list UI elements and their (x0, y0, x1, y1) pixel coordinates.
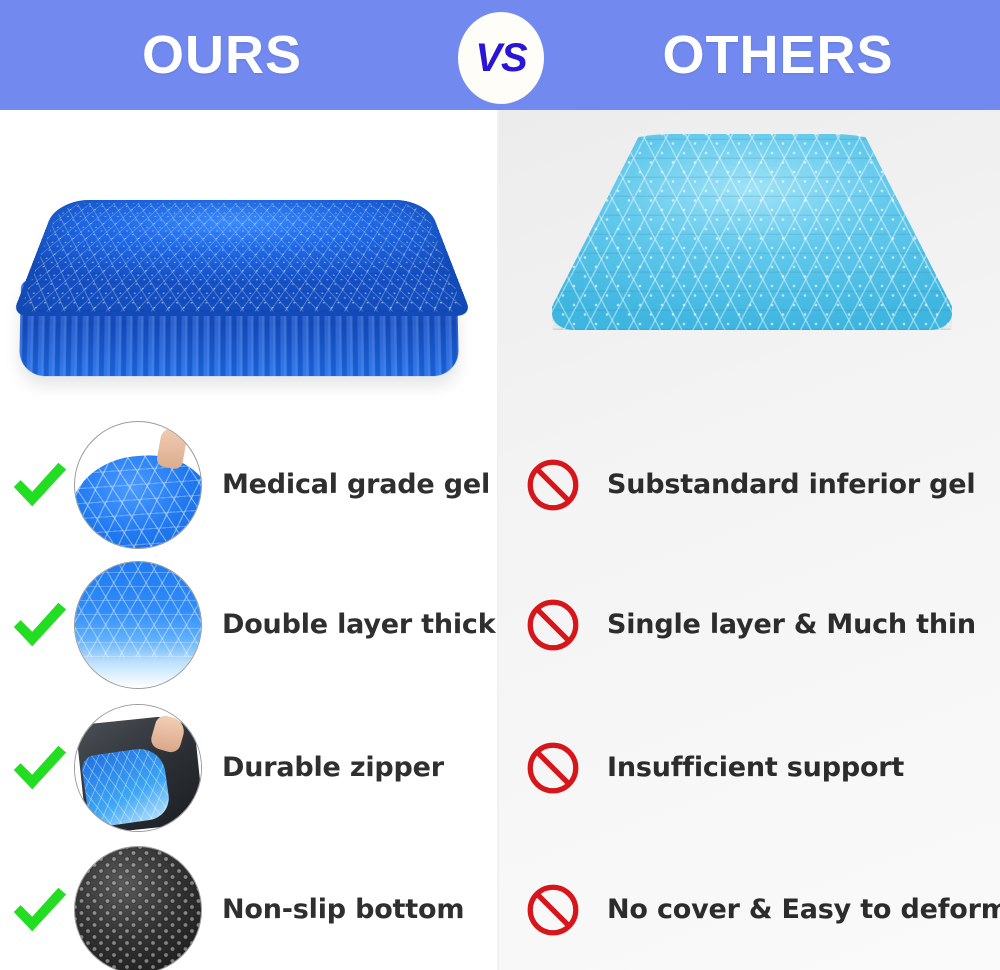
prohibition-icon (525, 882, 581, 938)
ours-feature-label: Medical grade gel (222, 469, 490, 500)
comparison-rows: Medical grade gel Substandard inferior g… (0, 415, 1000, 970)
check-icon (8, 737, 70, 799)
others-title: OTHERS (662, 28, 893, 82)
ours-cushion-top-honeycomb (12, 200, 472, 316)
comparison-row: Double layer thick Single layer & Much t… (0, 555, 1000, 694)
comparison-row: Medical grade gel Substandard inferior g… (0, 415, 1000, 554)
check-icon (8, 454, 70, 516)
ours-feature-cell: Medical grade gel (0, 415, 497, 554)
ours-feature-cell: Non-slip bottom (0, 840, 497, 970)
header-right-half: OTHERS (500, 0, 1000, 110)
others-cushion-dome-honeycomb (552, 134, 952, 330)
ours-feature-label: Double layer thick (222, 609, 496, 640)
check-icon (8, 879, 70, 941)
vs-badge: VS (458, 12, 544, 104)
ours-feature-label: Non-slip bottom (222, 894, 464, 925)
ours-feature-label: Durable zipper (222, 752, 444, 783)
prohibition-icon (525, 457, 581, 513)
inner-gel-shape (80, 745, 171, 828)
ours-cushion-illustration (12, 130, 472, 378)
ours-feature-thumbnail (74, 704, 202, 832)
others-feature-cell: Insufficient support (497, 698, 1000, 837)
others-feature-cell: Substandard inferior gel (497, 415, 1000, 554)
check-icon (8, 594, 70, 656)
others-feature-label: Insufficient support (607, 752, 904, 783)
prohibition-icon (525, 597, 581, 653)
ours-feature-thumbnail (74, 421, 202, 549)
comparison-row: Non-slip bottom No cover & Easy to defor… (0, 840, 1000, 970)
ours-title: OURS (142, 28, 302, 82)
others-feature-cell: No cover & Easy to deform (497, 840, 1000, 970)
others-product-image (497, 112, 1000, 412)
ours-feature-thumbnail (74, 846, 202, 970)
others-feature-cell: Single layer & Much thin (497, 555, 1000, 694)
comparison-infographic: OURS OTHERS VS (0, 0, 1000, 970)
others-cushion-illustration (552, 134, 952, 344)
others-feature-label: No cover & Easy to deform (607, 894, 1000, 925)
ours-feature-cell: Durable zipper (0, 698, 497, 837)
prohibition-icon (525, 740, 581, 796)
header-left-half: OURS (0, 0, 500, 110)
ours-feature-cell: Double layer thick (0, 555, 497, 694)
comparison-row: Durable zipper Insufficient support (0, 698, 1000, 837)
others-feature-label: Substandard inferior gel (607, 469, 975, 500)
non-slip-bottom-image (75, 847, 201, 970)
double-layer-image (75, 562, 201, 688)
ours-product-image (0, 112, 497, 412)
vs-label: VS (475, 38, 526, 78)
ours-feature-thumbnail (74, 561, 202, 689)
others-feature-label: Single layer & Much thin (607, 609, 976, 640)
gel-pad-image (74, 451, 202, 549)
zipper-cover-image (75, 705, 201, 831)
